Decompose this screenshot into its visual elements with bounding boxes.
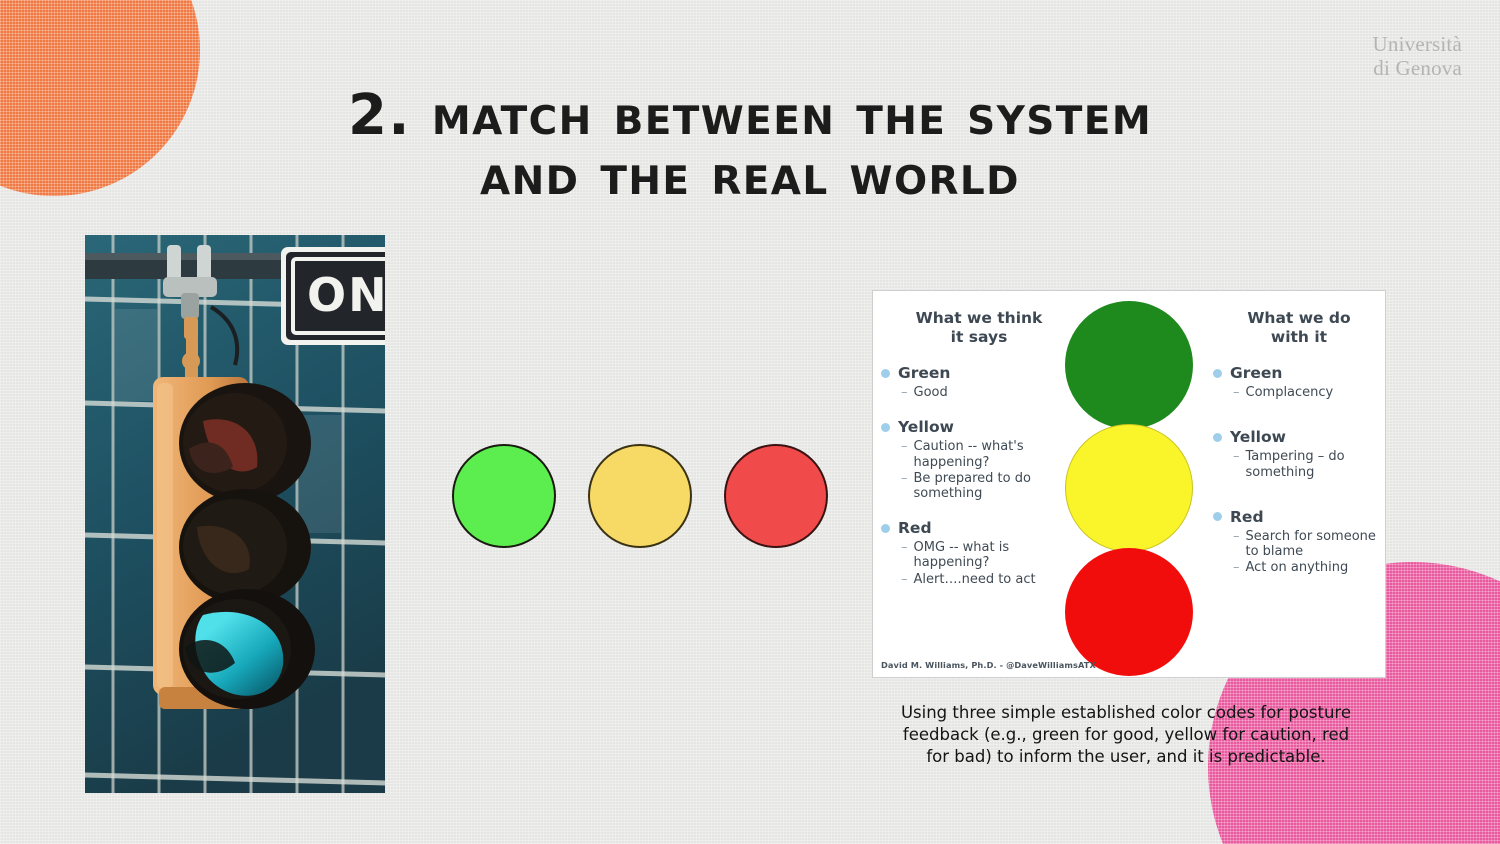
list-item: – Tampering – do something	[1233, 449, 1385, 479]
list-item: – Caution -- what's happening?	[901, 439, 1077, 469]
right-group-yellow-label: Yellow	[1230, 428, 1286, 446]
logo-line-2: di Genova	[1373, 57, 1462, 81]
university-logo: Università di Genova	[1373, 33, 1462, 80]
logo-line-1: Università	[1373, 33, 1462, 57]
right-group-red-head: Red	[1213, 508, 1385, 526]
slide: Università di Genova 2. Match between th…	[0, 0, 1500, 844]
infographic-traffic-lights	[1065, 301, 1197, 676]
left-group-green-head: Green	[881, 364, 1077, 382]
left-yellow-item-1: Be prepared to do something	[914, 471, 1078, 501]
right-group-green-label: Green	[1230, 364, 1282, 382]
swatch-red	[724, 444, 828, 548]
traffic-light-infographic: What we think it says Green – Good Yello…	[872, 290, 1386, 678]
right-column-title-line-1: What we do	[1213, 309, 1385, 328]
infographic-credit: David M. Williams, Ph.D. - @DaveWilliams…	[881, 660, 1096, 670]
list-item: – Act on anything	[1233, 560, 1385, 575]
swatch-yellow	[588, 444, 692, 548]
right-group-yellow: Yellow – Tampering – do something	[1213, 428, 1385, 479]
left-column-title: What we think it says	[881, 309, 1077, 346]
infographic-light-red	[1065, 548, 1193, 676]
left-column-title-line-1: What we think	[881, 309, 1077, 328]
left-yellow-item-0: Caution -- what's happening?	[914, 439, 1078, 469]
traffic-light-photo: ONE	[85, 235, 385, 793]
traffic-light-illustration: ONE	[85, 235, 385, 793]
bullet-dot-icon	[881, 369, 890, 378]
left-group-green: Green – Good	[881, 364, 1077, 400]
dash-icon: –	[1233, 560, 1240, 575]
left-green-item-0: Good	[914, 385, 948, 400]
dash-icon: –	[1233, 529, 1240, 559]
list-item: – Alert….need to act	[901, 572, 1077, 587]
left-red-item-1: Alert….need to act	[914, 572, 1036, 587]
list-item: – Be prepared to do something	[901, 471, 1077, 501]
dash-icon: –	[901, 572, 908, 587]
infographic-right-column: What we do with it Green – Complacency Y…	[1213, 309, 1385, 576]
bullet-dot-icon	[1213, 512, 1222, 521]
right-group-green-head: Green	[1213, 364, 1385, 382]
dash-icon: –	[901, 540, 908, 570]
right-column-title-line-2: with it	[1213, 328, 1385, 347]
page-title-line-1: 2. Match between the system	[120, 86, 1380, 146]
right-red-item-1: Act on anything	[1246, 560, 1349, 575]
left-group-red-label: Red	[898, 519, 932, 537]
right-green-item-0: Complacency	[1246, 385, 1334, 400]
right-yellow-item-0: Tampering – do something	[1246, 449, 1386, 479]
left-group-yellow-label: Yellow	[898, 418, 954, 436]
list-item: – Search for someone to blame	[1233, 529, 1385, 559]
list-item: – Complacency	[1233, 385, 1385, 400]
page-title-line-2: and the real world	[120, 146, 1380, 206]
dash-icon: –	[1233, 449, 1240, 479]
bullet-dot-icon	[1213, 369, 1222, 378]
list-item: – OMG -- what is happening?	[901, 540, 1077, 570]
svg-text:ONE: ONE	[307, 268, 385, 322]
dash-icon: –	[1233, 385, 1240, 400]
left-group-yellow-head: Yellow	[881, 418, 1077, 436]
dash-icon: –	[901, 385, 908, 400]
caption: Using three simple established color cod…	[876, 702, 1376, 767]
left-group-red-head: Red	[881, 519, 1077, 537]
right-group-green: Green – Complacency	[1213, 364, 1385, 400]
page-title: 2. Match between the system and the real…	[120, 86, 1380, 206]
dash-icon: –	[901, 439, 908, 469]
bullet-dot-icon	[881, 423, 890, 432]
left-group-red: Red – OMG -- what is happening? – Alert……	[881, 519, 1077, 587]
caption-line-3: for bad) to inform the user, and it is p…	[876, 746, 1376, 768]
infographic-left-column: What we think it says Green – Good Yello…	[881, 309, 1077, 588]
left-group-yellow: Yellow – Caution -- what's happening? – …	[881, 418, 1077, 501]
caption-line-2: feedback (e.g., green for good, yellow f…	[876, 724, 1376, 746]
right-group-yellow-head: Yellow	[1213, 428, 1385, 446]
right-red-item-0: Search for someone to blame	[1246, 529, 1386, 559]
right-column-title: What we do with it	[1213, 309, 1385, 346]
infographic-light-green	[1065, 301, 1193, 429]
list-item: – Good	[901, 385, 1077, 400]
bullet-dot-icon	[1213, 433, 1222, 442]
bullet-dot-icon	[881, 524, 890, 533]
dash-icon: –	[901, 471, 908, 501]
color-code-swatches	[452, 444, 828, 548]
swatch-green	[452, 444, 556, 548]
left-group-green-label: Green	[898, 364, 950, 382]
caption-line-1: Using three simple established color cod…	[876, 702, 1376, 724]
right-group-red: Red – Search for someone to blame – Act …	[1213, 508, 1385, 576]
left-red-item-0: OMG -- what is happening?	[914, 540, 1078, 570]
left-column-title-line-2: it says	[881, 328, 1077, 347]
right-group-red-label: Red	[1230, 508, 1264, 526]
infographic-light-yellow	[1065, 424, 1193, 552]
